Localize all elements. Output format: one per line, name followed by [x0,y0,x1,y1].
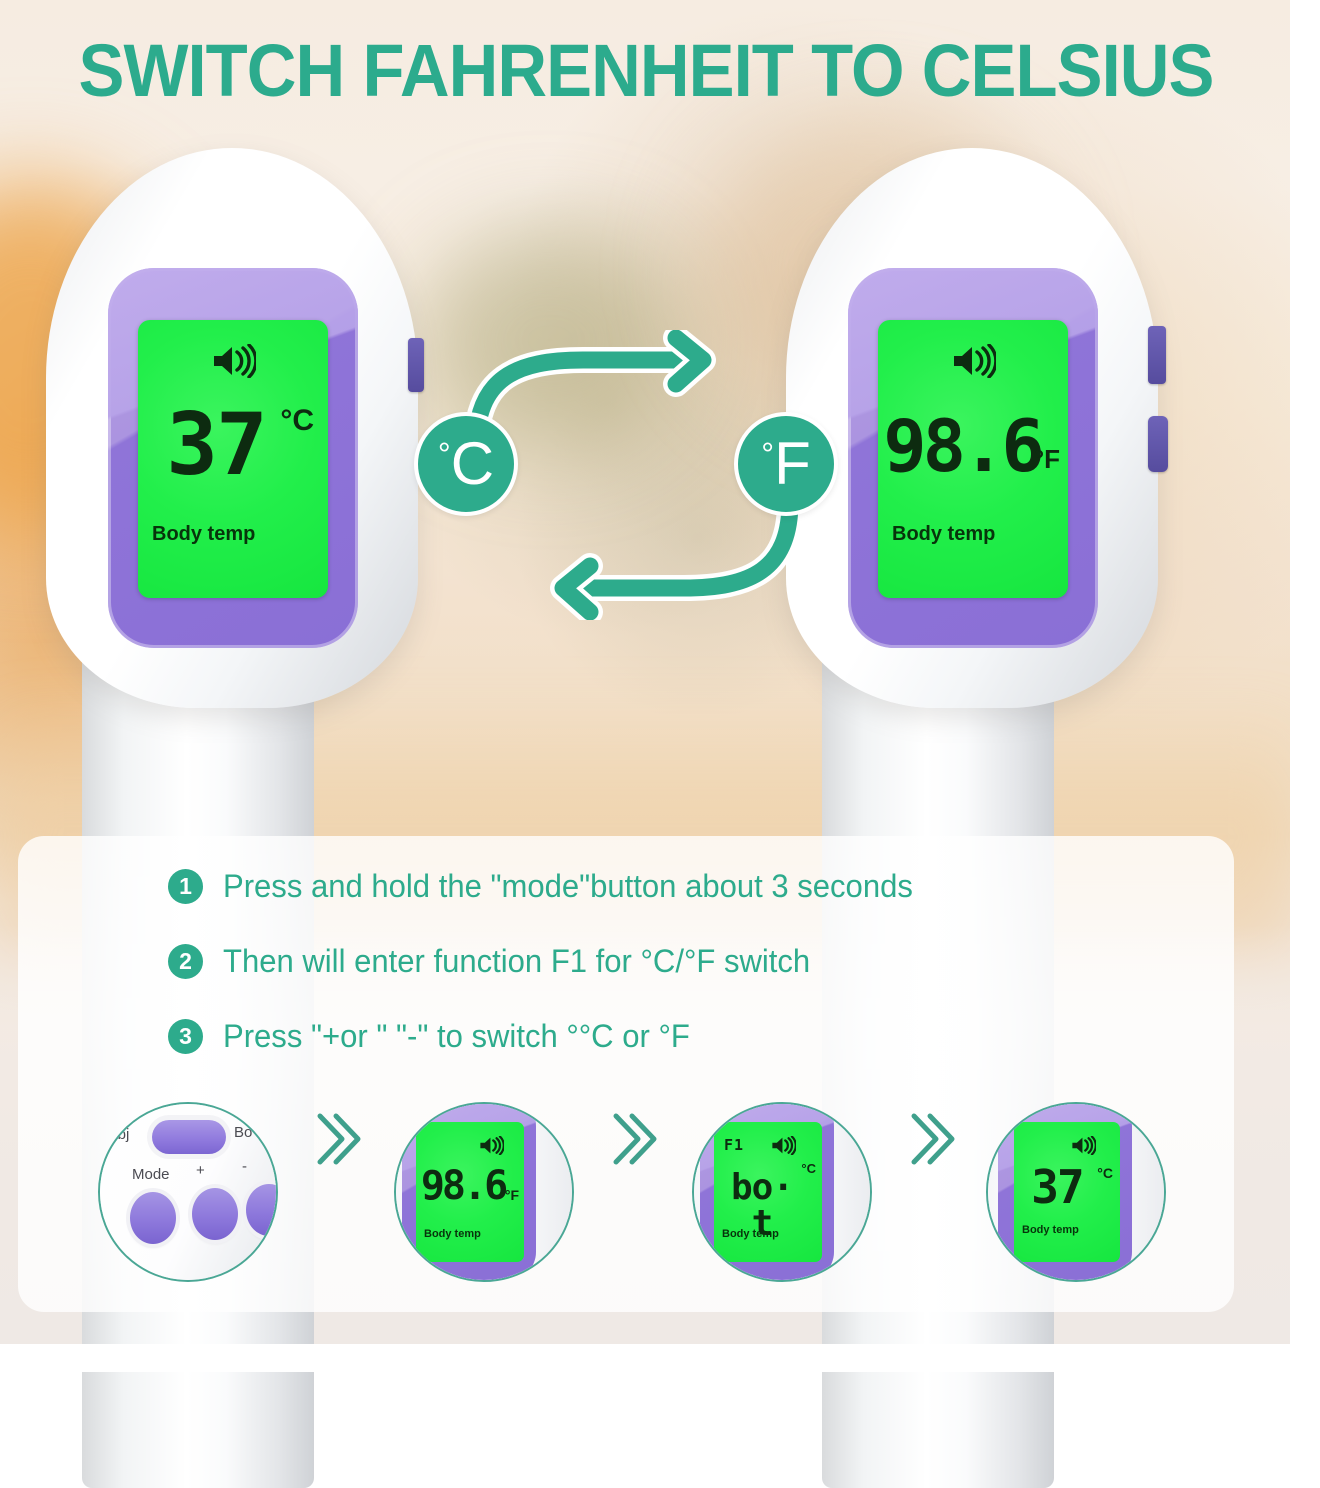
speaker-on-icon [1070,1136,1096,1160]
step-text: Press "+or " "-" to switch °°C or °F [223,1018,690,1055]
instructions-panel: 1 Press and hold the "mode"button about … [18,836,1234,1312]
step-number-badge: 2 [168,944,203,979]
instruction-step-3: 3 Press "+or " "-" to switch °°C or °F [168,1018,704,1055]
image-bottom-margin [0,1344,1320,1372]
plus-button[interactable] [192,1188,238,1240]
fahrenheit-degree-symbol: ° [761,438,774,470]
lcd-screen: 98.6 °F Body temp [416,1122,524,1262]
keypad-label-plus: + [196,1162,205,1179]
unit-switch-graphic: °C °F [398,330,868,620]
keypad-label-mode: Mode [132,1166,170,1183]
step-number-badge: 3 [168,1019,203,1054]
celsius-badge[interactable]: °C [414,412,518,516]
fahrenheit-badge[interactable]: °F [734,412,838,516]
speaker-on-icon [478,1136,504,1160]
page-title: SWITCH FAHRENHEIT TO CELSIUS [45,28,1247,113]
chevron-double-right-icon [904,1108,960,1170]
instruction-step-2: 2 Then will enter function F1 for °C/°F … [168,943,828,980]
lcd-unit-left: °C [280,406,314,436]
step-text: Then will enter function F1 for °C/°F sw… [223,943,810,980]
lcd-mode-label: Body temp [722,1228,779,1240]
lcd-mode-label-right: Body temp [892,523,995,546]
step-text: Press and hold the "mode"button about 3 … [223,868,913,905]
device-faceplate-left: 37 °C Body temp [108,268,358,648]
lcd-screen-left: 37 °C Body temp [138,320,328,598]
celsius-degree-symbol: ° [438,438,451,470]
sequence-thumbnail-f1-mode: F1 bo· t °C Body temp [692,1102,872,1282]
display-photo: 37 °C Body temp [988,1104,1166,1282]
lcd-function-indicator: F1 [724,1136,744,1154]
side-button-lower-right-device[interactable] [1148,416,1168,472]
lcd-unit: °C [1097,1166,1113,1180]
sequence-thumbnail-keypad: Obj Bo Mode + - [98,1102,278,1282]
sequence-thumbnail-celsius-reading: 37 °C Body temp [986,1102,1166,1282]
side-button-upper-right-device[interactable] [1148,326,1166,384]
infographic-page: 37 °C Body temp [0,0,1320,1372]
lcd-mode-label: Body temp [1022,1224,1079,1236]
thermometer-head-left: 37 °C Body temp [46,148,418,708]
celsius-letter: C [451,434,494,494]
lcd-unit-right: °F [1034,446,1060,472]
keypad-label-body: Bo [234,1124,252,1141]
speaker-on-icon [950,344,996,383]
keypad-photo: Obj Bo Mode + - [100,1104,278,1282]
lcd-screen-right: 98.6 °F Body temp [878,320,1068,598]
speaker-on-icon [210,344,256,383]
obj-body-toggle-switch[interactable] [152,1120,226,1154]
lcd-unit: °C [801,1162,816,1175]
keypad-label-minus: - [242,1158,247,1175]
display-photo: F1 bo· t °C Body temp [694,1104,872,1282]
chevron-double-right-icon [606,1108,662,1170]
speaker-on-icon [770,1136,796,1160]
lcd-mode-label: Body temp [424,1228,481,1240]
mode-button[interactable] [130,1192,176,1244]
instruction-step-1: 1 Press and hold the "mode"button about … [168,868,934,905]
device-faceplate-right: 98.6 °F Body temp [848,268,1098,648]
fahrenheit-letter: F [774,434,811,494]
lcd-mode-label-left: Body temp [152,523,255,546]
lcd-screen: F1 bo· t °C Body temp [714,1122,822,1262]
keypad-label-obj: Obj [106,1126,129,1143]
lcd-screen: 37 °C Body temp [1014,1122,1120,1262]
sequence-thumbnail-fahrenheit-reading: 98.6 °F Body temp [394,1102,574,1282]
image-right-margin [1290,0,1320,1372]
lcd-unit: °F [505,1188,519,1202]
chevron-double-right-icon [310,1108,366,1170]
step-number-badge: 1 [168,869,203,904]
display-photo: 98.6 °F Body temp [396,1104,574,1282]
